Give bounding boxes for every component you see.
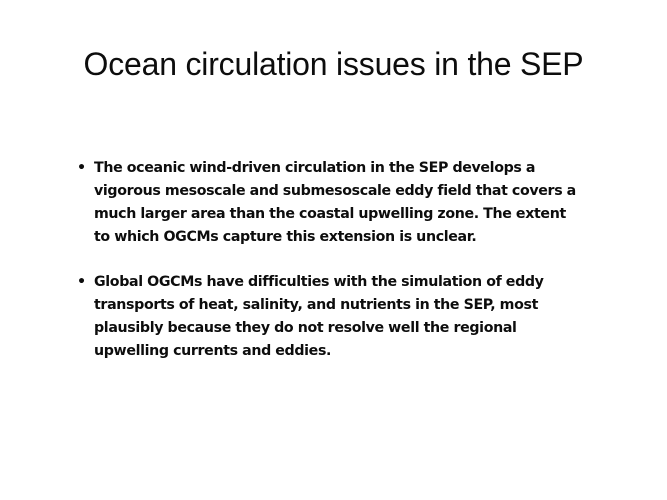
list-item: • Global OGCMs have difficulties with th…: [76, 271, 586, 363]
list-item-text: The oceanic wind-driven circulation in t…: [94, 157, 586, 249]
list-item: • The oceanic wind-driven circulation in…: [76, 157, 586, 249]
page-title: Ocean circulation issues in the SEP: [0, 44, 667, 84]
list-item-text: Global OGCMs have difficulties with the …: [94, 271, 586, 363]
bullet-icon: •: [77, 271, 91, 294]
bullet-icon: •: [77, 157, 91, 180]
bullet-list: • The oceanic wind-driven circulation in…: [76, 157, 586, 363]
slide: Ocean circulation issues in the SEP • Th…: [0, 0, 667, 500]
